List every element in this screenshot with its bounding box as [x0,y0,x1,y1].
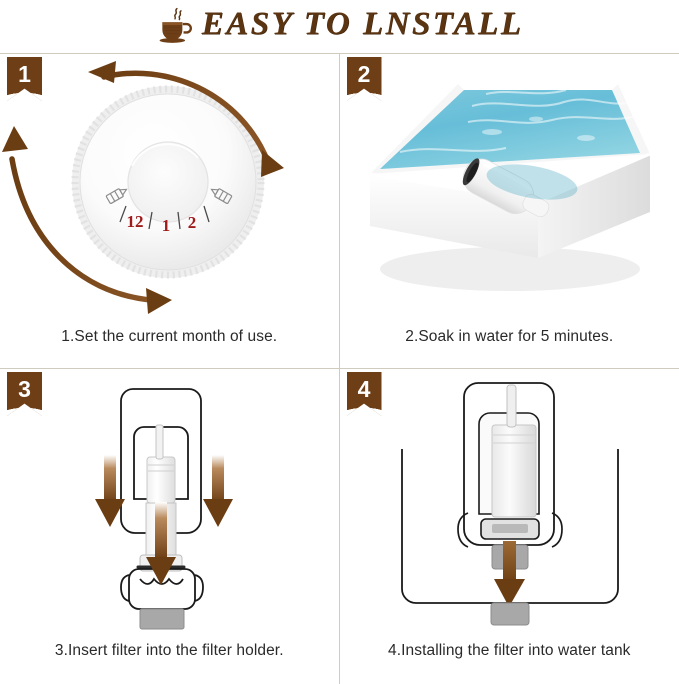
tank-socket [491,603,529,625]
insert-filter-svg [0,377,340,632]
step-panel-4: 4 [340,369,679,684]
insert-filter-illustration [0,377,339,632]
step-panel-1: 1 [0,54,340,369]
filter-cartridge-upper [147,425,175,503]
step-caption-1: 1.Set the current month of use. [0,328,339,346]
water-box-svg [340,54,679,326]
install-tank-svg [340,377,679,632]
step-caption-4: 4.Installing the filter into water tank [340,642,679,660]
coffee-cup-icon [156,5,196,45]
page-title: EASY TO LNSTALL [202,8,524,41]
step-panel-2: 2 [340,54,679,369]
dial-label-1: 1 [162,216,171,235]
dial-label-2: 2 [188,213,197,232]
month-dial-svg: 12 1 2 [0,54,340,326]
install-into-tank-illustration [340,377,679,632]
down-arrow-right [203,455,233,527]
holder-base [140,609,184,629]
coffee-cup-icon-svg [156,5,196,45]
dial-label-12: 12 [127,212,144,231]
soak-in-water-illustration [340,54,679,326]
steps-grid: 1 [0,53,679,684]
page-header: EASY TO LNSTALL [0,0,679,53]
step-panel-3: 3 [0,369,340,684]
step-caption-2: 2.Soak in water for 5 minutes. [340,328,679,346]
month-dial-illustration: 12 1 2 [0,54,339,326]
step-caption-3: 3.Insert filter into the filter holder. [0,642,339,660]
